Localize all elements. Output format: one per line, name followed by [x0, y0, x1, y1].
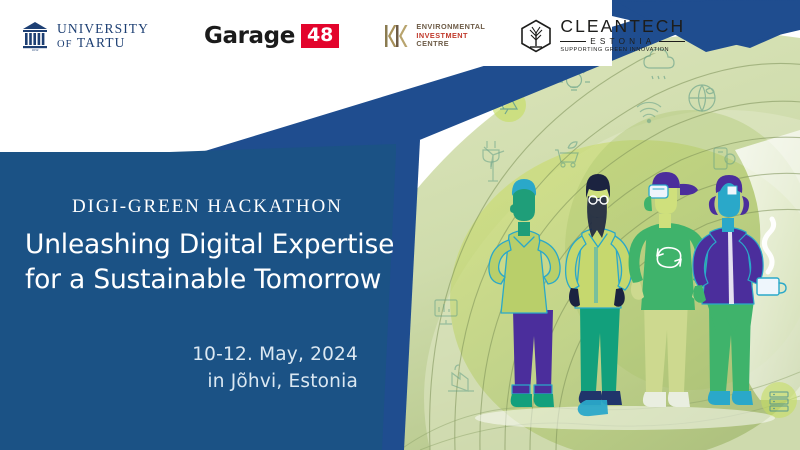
classical-building-icon: 1632 — [22, 21, 48, 51]
event-headline-line1: Unleashing Digital Expertise — [25, 228, 400, 263]
svg-text:1632: 1632 — [32, 48, 39, 51]
logo-cleantech-line2: ESTONIA — [560, 38, 685, 46]
sponsor-logo-bar: 1632 UNIVERSITY OF TARTU Garage 48 ENVIR… — [0, 0, 800, 72]
logo-kik-line3: CENTRE — [416, 40, 485, 49]
logo-environmental-investment-centre: ENVIRONMENTAL INVESTMENT CENTRE — [383, 23, 485, 50]
event-kicker: DIGI-GREEN HACKATHON — [72, 196, 343, 218]
logo-cleantech-estonia: CLEANTECH ESTONIA SUPPORTING GREEN INNOV… — [519, 18, 685, 54]
kik-monogram-icon — [383, 23, 409, 49]
server-icon — [761, 382, 797, 418]
logo-garage48-badge: 48 — [301, 24, 339, 48]
logo-garage48: Garage 48 — [204, 23, 339, 49]
logo-cleantech-line1: CLEANTECH — [560, 18, 685, 36]
event-date: 10-12. May, 2024 — [0, 342, 358, 369]
event-headline-line2: for a Sustainable Tomorrow — [25, 263, 400, 298]
tree-in-hexagon-icon — [519, 19, 553, 53]
event-text-block: DIGI-GREEN HACKATHON Unleashing Digital … — [0, 150, 400, 450]
event-headline: Unleashing Digital Expertise for a Susta… — [25, 228, 400, 298]
logo-cleantech-rule-right — [659, 41, 685, 42]
logo-ut-line1: UNIVERSITY — [57, 22, 149, 36]
event-location: in Jõhvi, Estonia — [0, 369, 358, 396]
logo-garage48-word: Garage — [204, 23, 295, 49]
logo-ut-line2: OF TARTU — [57, 36, 149, 51]
logo-cleantech-rule-left — [560, 41, 586, 42]
event-meta: 10-12. May, 2024 in Jõhvi, Estonia — [0, 342, 358, 396]
logo-cleantech-line3: SUPPORTING GREEN INNOVATION — [560, 48, 685, 54]
poster-root: 1632 UNIVERSITY OF TARTU Garage 48 ENVIR… — [0, 0, 800, 450]
logo-university-of-tartu: 1632 UNIVERSITY OF TARTU — [22, 21, 149, 51]
